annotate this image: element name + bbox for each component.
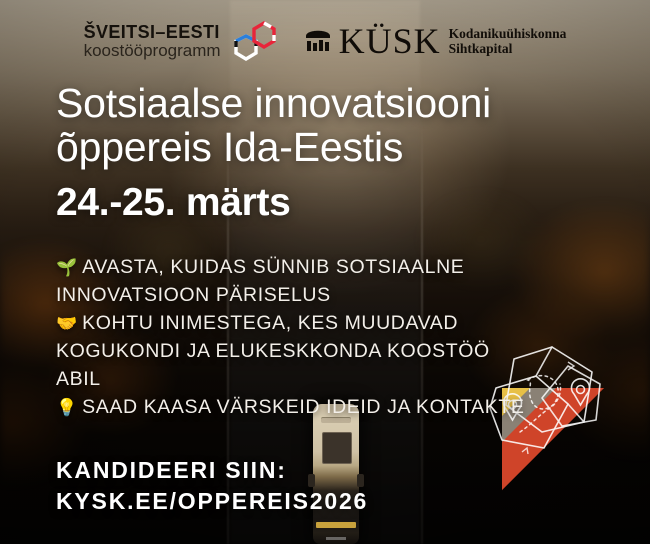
kysk-logo: KÜSK Kodanikuühiskonna Sihtkapital [305,23,567,59]
headline-line1: Sotsiaalse innovatsiooni [56,82,616,126]
seedling-emoji: 🌱 [56,258,77,277]
lightbulb-emoji: 💡 [56,398,77,417]
list-item-text: SAAD KAASA VÄRSKEID IDEID JA KONTAKTE [82,396,524,418]
kysk-subtitle: Kodanikuühiskonna Sihtkapital [449,26,567,56]
headline: Sotsiaalse innovatsiooni õppereis Ida-Ee… [56,82,616,170]
list-item: 💡SAAD KAASA VÄRSKEID IDEID JA KONTAKTE [56,394,526,422]
list-item: 🌱AVASTA, KUIDAS SÜNNIB SOTSIAALNE INNOVA… [56,254,526,309]
list-item-text: AVASTA, KUIDAS SÜNNIB SOTSIAALNE INNOVAT… [56,256,464,306]
swiss-logo-line1: ŠVEITSI–EESTI [84,23,221,41]
swiss-estonia-logo: ŠVEITSI–EESTI koostööprogramm [84,18,277,64]
kysk-subtitle-line2: Sihtkapital [449,41,567,56]
call-to-action[interactable]: KANDIDEERI SIIN: KYSK.EE/OPPEREIS2026 [56,455,368,516]
handshake-emoji: 🤝 [56,314,77,333]
poster-canvas: ŠVEITSI–EESTI koostööprogramm [0,0,650,544]
list-item-text: KOHTU INIMESTEGA, KES MUUDAVAD KOGUKONDI… [56,312,490,389]
kysk-subtitle-line1: Kodanikuühiskonna [449,26,567,41]
list-item: 🤝KOHTU INIMESTEGA, KES MUUDAVAD KOGUKOND… [56,310,526,393]
kysk-building-mark [305,27,331,55]
kysk-wordmark: KÜSK [339,23,441,59]
cta-url[interactable]: KYSK.EE/OPPEREIS2026 [56,486,368,517]
interlocking-hexagons-mark [233,18,277,64]
logo-row: ŠVEITSI–EESTI koostööprogramm [0,14,650,68]
headline-line2: õppereis Ida-Eestis [56,126,616,170]
bus-tail-light [326,537,346,540]
benefits-list: 🌱AVASTA, KUIDAS SÜNNIB SOTSIAALNE INNOVA… [56,254,526,423]
swiss-logo-line2: koostööprogramm [84,42,221,59]
event-date: 24.-25. märts [56,181,291,225]
swiss-estonia-wordmark: ŠVEITSI–EESTI koostööprogramm [84,23,221,59]
cta-label: KANDIDEERI SIIN: [56,455,368,486]
bus-rear-strip [316,522,356,528]
